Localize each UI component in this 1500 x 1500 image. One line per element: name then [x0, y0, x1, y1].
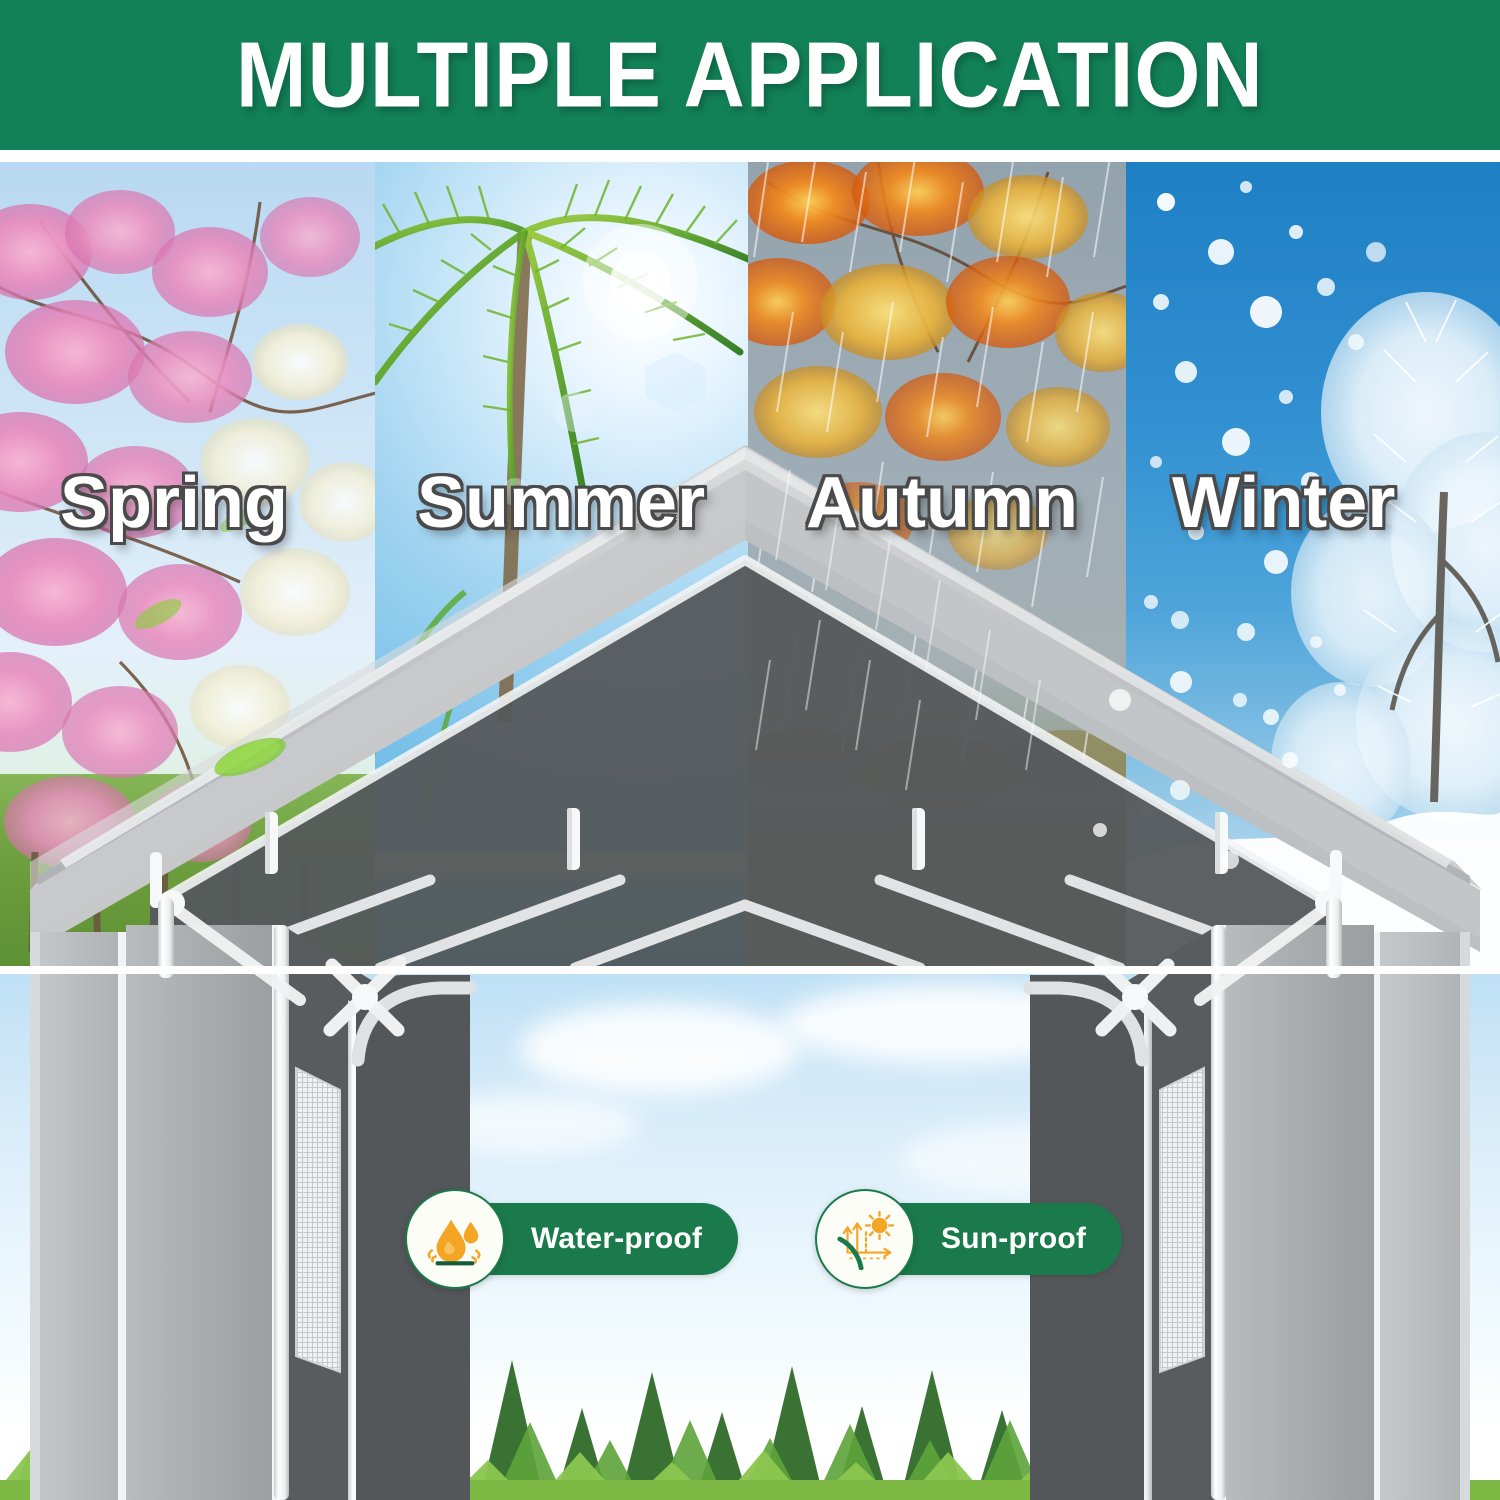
badge-water-proof[interactable]: Water-proof: [405, 1196, 738, 1282]
season-strip: Spring: [0, 162, 1500, 974]
banner-separator: [0, 150, 1500, 162]
season-label-winter: Winter: [1172, 462, 1395, 544]
pine-forest: [0, 1320, 1500, 1500]
season-panel-winter: Winter: [1126, 162, 1500, 974]
season-panel-spring: Spring: [0, 162, 375, 974]
page-title: MULTIPLE APPLICATION: [236, 22, 1264, 129]
feature-badges: Water-proof: [0, 1196, 1500, 1296]
autumn-scene: [748, 162, 1126, 974]
season-label-spring: Spring: [60, 462, 288, 544]
product-marketing-image: MULTIPLE APPLICATION: [0, 0, 1500, 1500]
sun-shield-icon: [815, 1189, 915, 1289]
season-panel-autumn: Autumn: [748, 162, 1126, 974]
winter-scene: [1126, 162, 1500, 974]
season-label-autumn: Autumn: [806, 462, 1078, 544]
scene-divider: [0, 966, 1500, 974]
badge-label-water-proof: Water-proof: [531, 1222, 702, 1256]
header-banner: MULTIPLE APPLICATION: [0, 0, 1500, 150]
water-drop-icon: [405, 1189, 505, 1289]
summer-scene: [375, 162, 748, 974]
badge-label-sun-proof: Sun-proof: [941, 1222, 1086, 1256]
season-panel-summer: Summer: [375, 162, 748, 974]
season-label-summer: Summer: [417, 462, 705, 544]
spring-scene: [0, 162, 375, 974]
badge-sun-proof[interactable]: Sun-proof: [815, 1196, 1122, 1282]
